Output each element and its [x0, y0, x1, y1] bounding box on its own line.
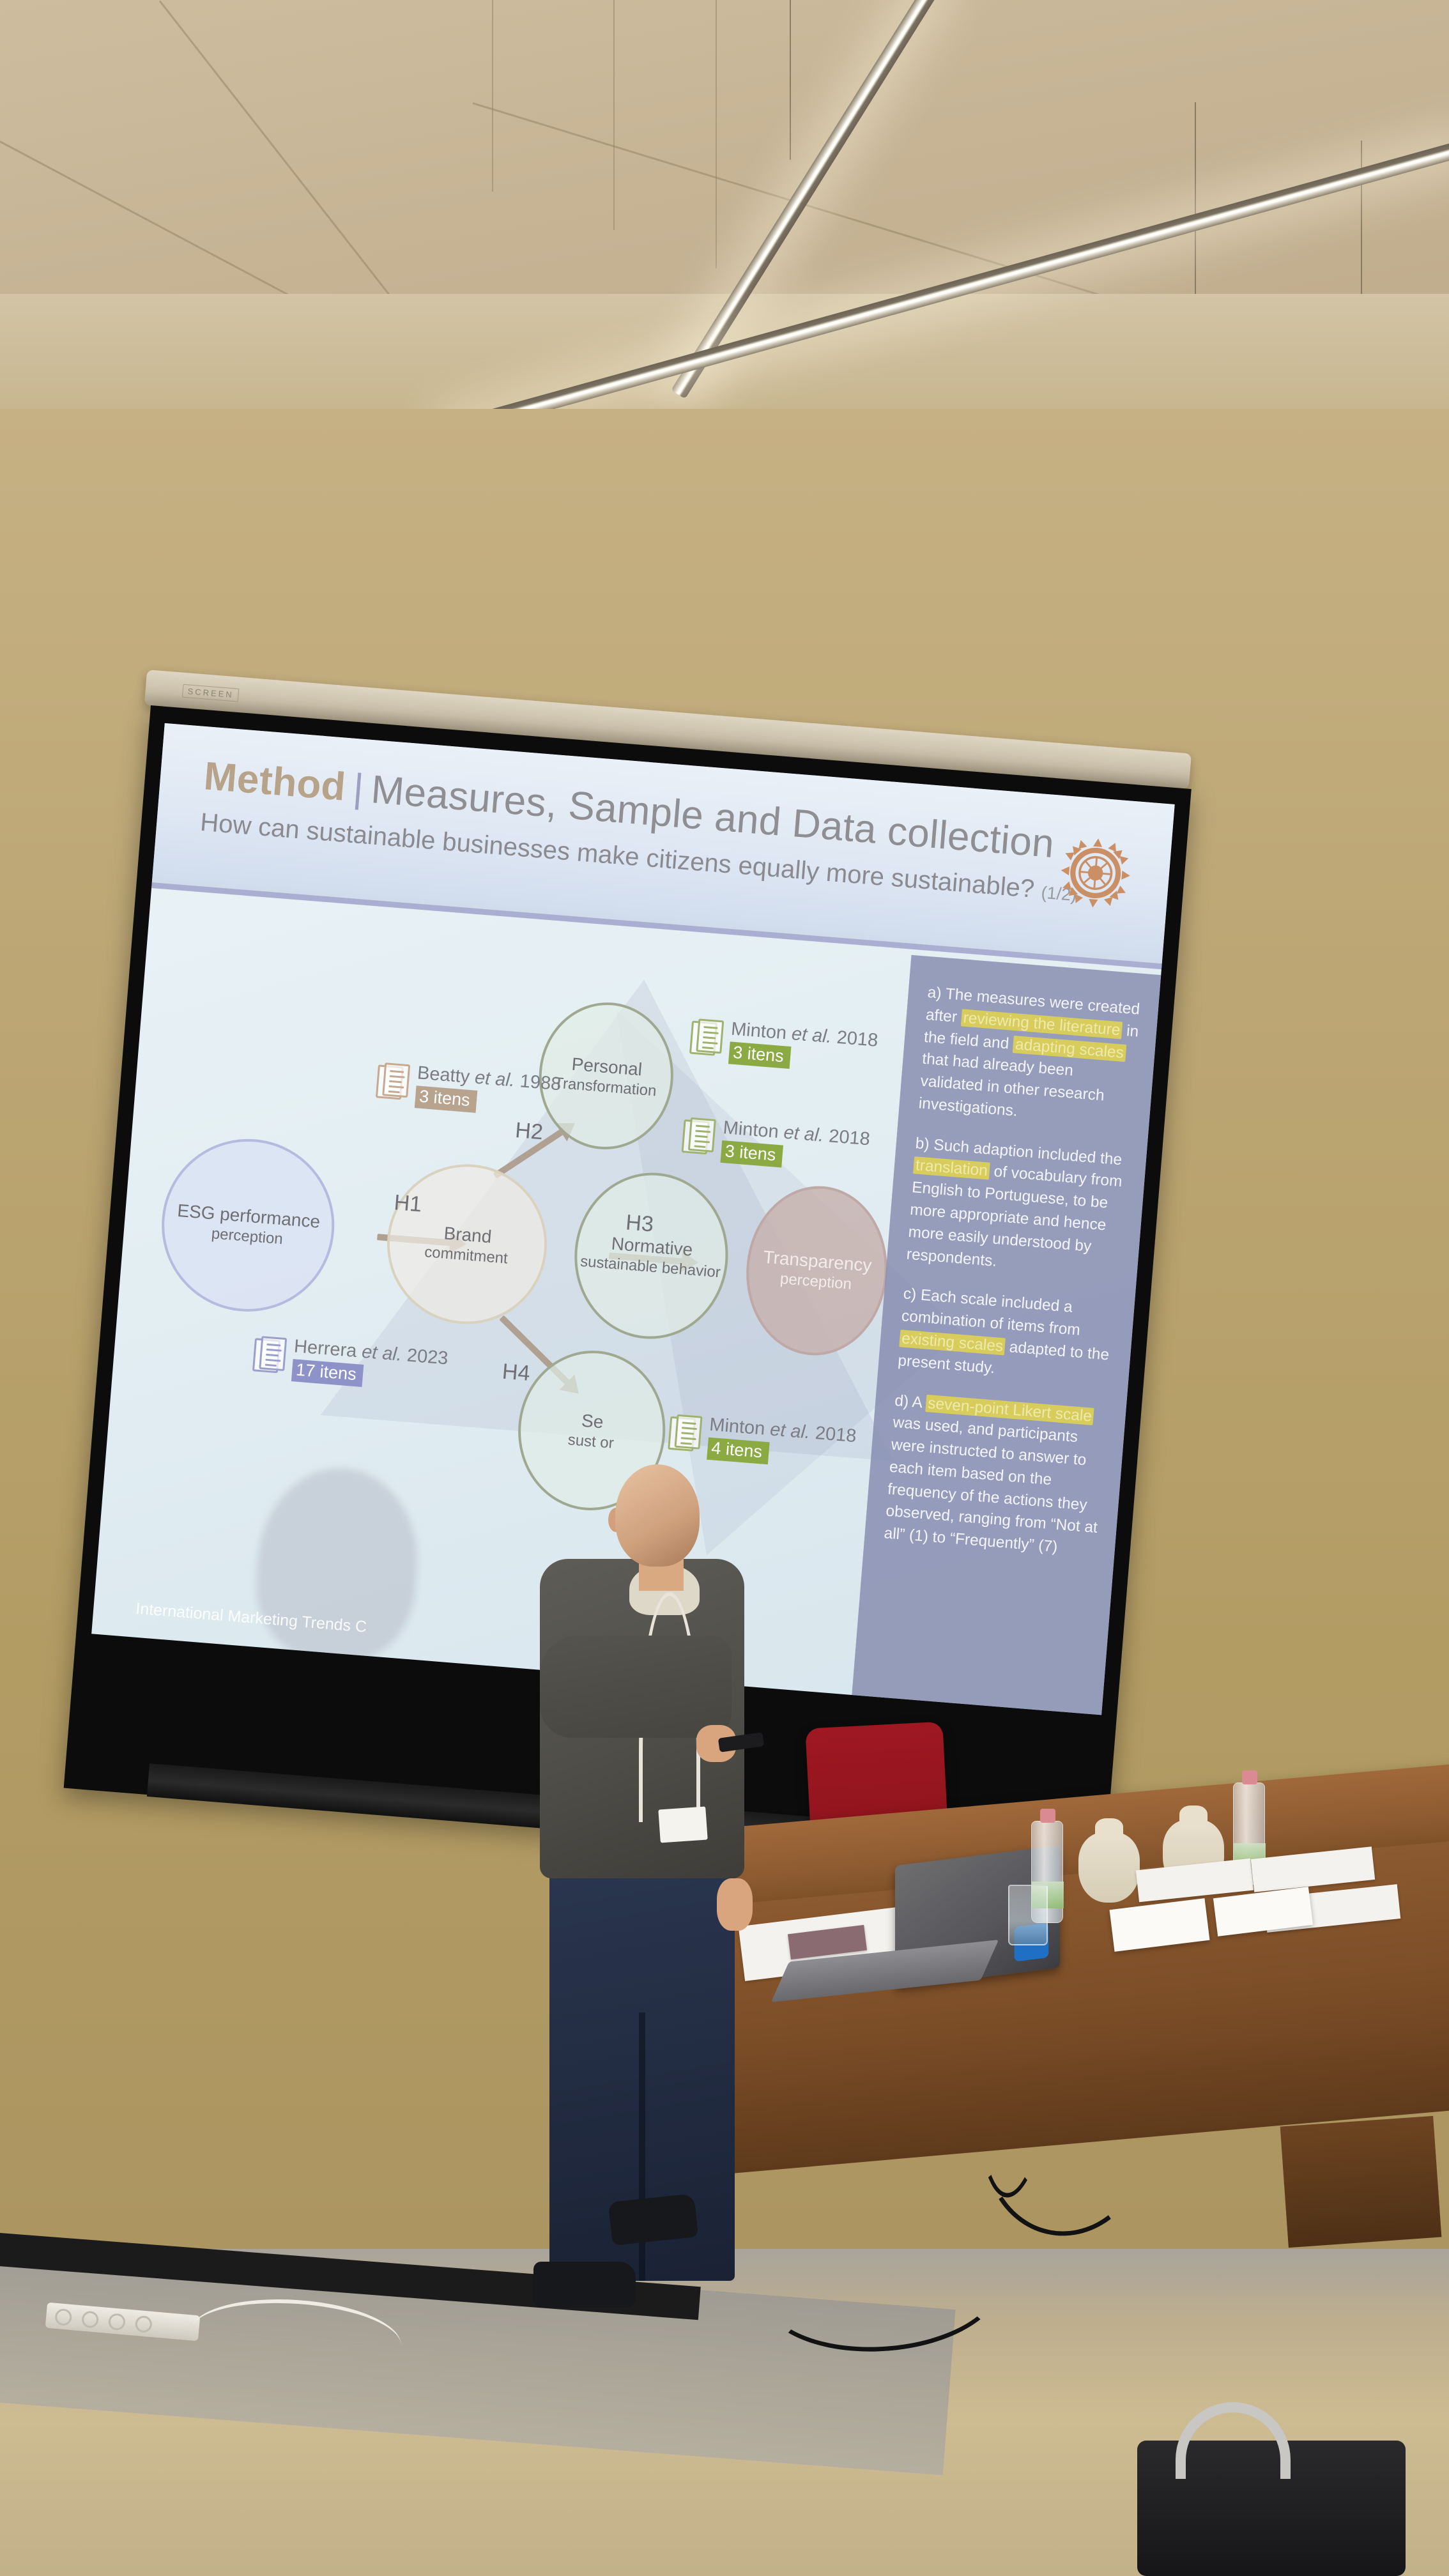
- citation-author: Herrera: [293, 1336, 358, 1361]
- node-label-line1: Se: [581, 1409, 604, 1433]
- hypothesis-label-h3: H3: [625, 1210, 654, 1237]
- documents-icon: [689, 1016, 726, 1058]
- light-suspension-wire: [1361, 141, 1362, 294]
- citation-year: 2018: [815, 1423, 857, 1446]
- node-label-line2: Transformation: [553, 1073, 657, 1101]
- presenter-shoe: [533, 2262, 636, 2308]
- gift-pouch: [1078, 1832, 1140, 1903]
- gear-icon: [1055, 832, 1136, 914]
- hypothesis-label-h1: H1: [393, 1190, 422, 1217]
- citation-author: Minton: [709, 1414, 765, 1439]
- node-label-line2: sust or: [567, 1430, 615, 1453]
- desk-leg: [1280, 2116, 1442, 2248]
- side-panel-item-c: c) Each scale included a combination of …: [897, 1284, 1118, 1390]
- side-panel-item-a: a) The measures were created after revie…: [917, 982, 1142, 1132]
- node-label-line2: commitment: [424, 1243, 509, 1268]
- screen-brand-label: SCREEN: [182, 684, 240, 702]
- citation-year: 1988: [519, 1071, 562, 1094]
- citation-etal: et al.: [783, 1123, 824, 1146]
- hypothesis-label-h4: H4: [502, 1360, 531, 1386]
- ceiling-panel-line: [716, 0, 717, 268]
- citation-year: 2018: [828, 1126, 871, 1149]
- citation-author: Minton: [730, 1019, 787, 1044]
- light-suspension-wire: [790, 0, 791, 160]
- citation-etal: et al.: [361, 1342, 402, 1365]
- citation-author: Minton: [723, 1117, 779, 1142]
- item-highlight: translation: [913, 1157, 990, 1180]
- item-text: was used, and participants were instruct…: [884, 1414, 1098, 1556]
- item-marker: d): [894, 1391, 909, 1410]
- documents-icon: [668, 1411, 704, 1453]
- light-suspension-wire: [1195, 102, 1196, 294]
- side-panel-item-b: b) Such adaption included the translatio…: [905, 1133, 1130, 1283]
- side-panel-item-d: d) A seven-point Likert scale was used, …: [883, 1390, 1109, 1562]
- ceiling-panel-line: [613, 0, 615, 230]
- item-marker: c): [903, 1285, 917, 1304]
- presenter-shoe: [608, 2193, 698, 2246]
- conference-room-photo: SCREEN Method|Measures, Sample and Data …: [0, 0, 1449, 2576]
- item-text: that had already been validated in other…: [918, 1050, 1105, 1120]
- item-text: Each scale included a combination of ite…: [901, 1287, 1081, 1339]
- item-highlight: adapting scales: [1013, 1036, 1126, 1062]
- documents-icon: [681, 1114, 717, 1156]
- citation-author: Beatty: [417, 1062, 471, 1087]
- ceiling-panel-line: [492, 0, 493, 192]
- node-label-line1: Brand: [443, 1222, 493, 1248]
- citation-items-badge: 17 itens: [291, 1359, 364, 1387]
- slide-title-divider: |: [344, 765, 373, 811]
- item-text: A: [912, 1393, 927, 1412]
- presenter-badge: [658, 1806, 707, 1843]
- presenter-head: [615, 1464, 700, 1567]
- documents-icon: [376, 1059, 412, 1101]
- citation-year: 2018: [836, 1027, 879, 1051]
- hypothesis-label-h2: H2: [514, 1118, 544, 1145]
- item-highlight: existing scales: [899, 1330, 1006, 1355]
- node-esg-performance-perception: ESG performance perception: [155, 1132, 341, 1318]
- item-text: of vocabulary from English to Portuguese…: [906, 1163, 1123, 1269]
- documents-icon: [252, 1333, 289, 1375]
- presenter-hand: [717, 1878, 753, 1931]
- citation-year: 2023: [406, 1345, 449, 1368]
- citation-etal: et al.: [474, 1068, 516, 1091]
- item-marker: a): [927, 984, 942, 1002]
- item-marker: b): [915, 1135, 930, 1153]
- presenter-arm: [540, 1636, 732, 1738]
- citation-etal: et al.: [769, 1419, 811, 1443]
- citation-etal: et al.: [791, 1023, 832, 1047]
